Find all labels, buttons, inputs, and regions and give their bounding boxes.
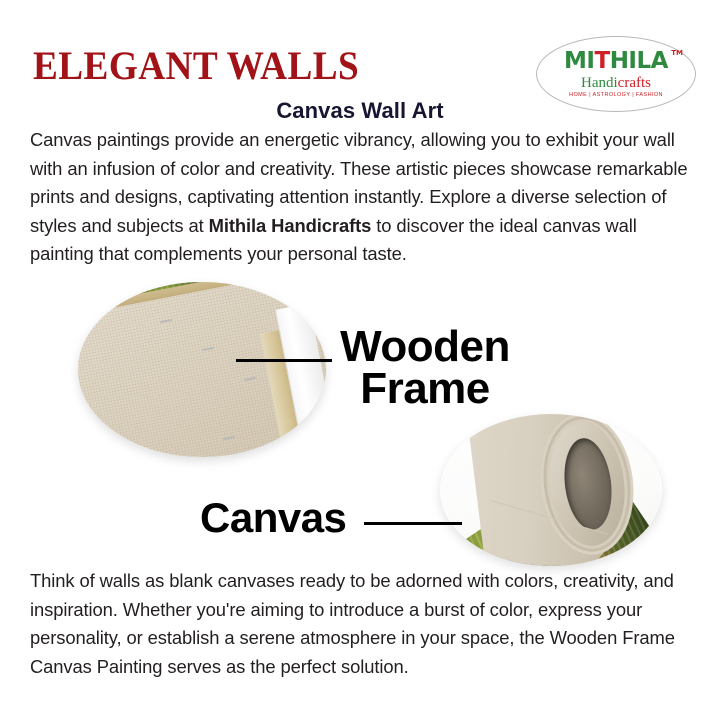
section-heading: Canvas Wall Art bbox=[0, 98, 720, 124]
logo-subword: Handicrafts bbox=[537, 76, 695, 91]
brand-mention: Mithila Handicrafts bbox=[209, 215, 372, 236]
logo-word-part3: HILA bbox=[610, 48, 668, 74]
wooden-frame-leader-line bbox=[236, 359, 332, 362]
rolled-canvas-photo bbox=[440, 414, 662, 566]
closing-paragraph: Think of walls as blank canvases ready t… bbox=[30, 567, 698, 681]
logo-word-part1: MI bbox=[564, 48, 594, 74]
canvas-leader-line bbox=[364, 522, 462, 525]
trademark-icon: TM bbox=[671, 49, 683, 57]
wooden-frame-photo bbox=[78, 282, 326, 457]
canvas-label: Canvas bbox=[200, 498, 370, 538]
logo-sub-part2: crafts bbox=[618, 75, 651, 91]
logo-word-part2: T bbox=[594, 48, 609, 74]
logo-sub-part1: Handi bbox=[581, 75, 618, 91]
intro-paragraph: Canvas paintings provide an energetic vi… bbox=[30, 126, 698, 269]
wooden-frame-label: WoodenFrame bbox=[330, 326, 520, 410]
page-title: ELEGANT WALLS bbox=[33, 46, 359, 86]
wooden-frame-label-line2: Frame bbox=[330, 368, 520, 410]
poster-page: ELEGANT WALLS MITHILA TM Handicrafts HOM… bbox=[0, 0, 720, 720]
